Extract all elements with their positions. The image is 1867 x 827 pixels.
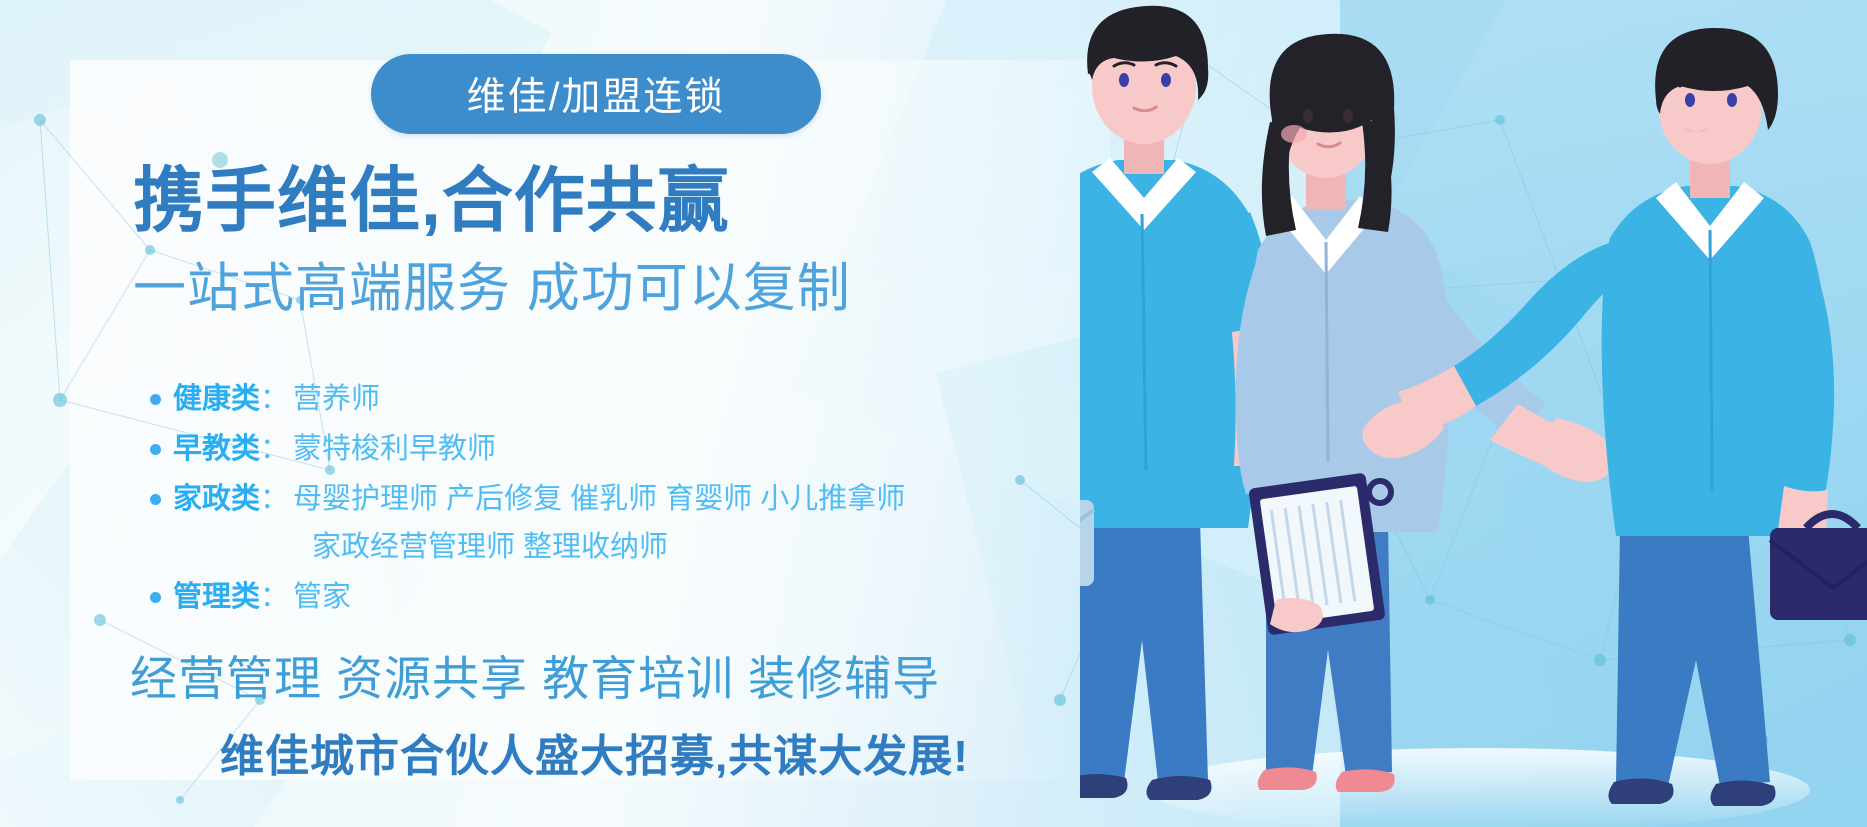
category-items: 营养师	[293, 378, 380, 420]
category-separator: ：	[260, 478, 289, 520]
list-item-continuation: 家政经营管理师 整理收纳师	[150, 526, 1050, 568]
list-item: 早教类 ： 蒙特梭利早教师	[150, 428, 1050, 470]
briefcase-dark	[1770, 514, 1867, 620]
list-item: 家政类 ： 母婴护理师 产后修复 催乳师 育婴师 小儿推拿师	[150, 478, 1050, 520]
banner-content: 维佳/加盟连锁 携手维佳,合作共赢 一站式高端服务 成功可以复制 健康类 ： 营…	[0, 0, 1050, 827]
bullet-dot-icon	[150, 494, 161, 505]
bullet-dot-icon	[150, 394, 161, 405]
services-line: 经营管理 资源共享 教育培训 装修辅导	[130, 655, 940, 702]
brand-badge-label: 维佳/加盟连锁	[467, 66, 726, 122]
category-items: 管家	[293, 576, 351, 618]
category-items-continued: 家政经营管理师 整理收纳师	[312, 526, 668, 568]
category-items: 母婴护理师 产后修复 催乳师 育婴师 小儿推拿师	[293, 478, 905, 520]
category-name: 早教类	[173, 428, 260, 470]
list-item: 管理类 ： 管家	[150, 576, 1050, 618]
bullet-dot-icon	[150, 592, 161, 603]
category-name: 健康类	[173, 378, 260, 420]
category-separator: ：	[260, 576, 289, 618]
figure-businessman-right	[1362, 28, 1867, 806]
category-separator: ：	[260, 378, 289, 420]
call-to-action-line: 维佳城市合伙人盛大招募,共谋大发展!	[220, 735, 969, 779]
promo-banner: 维佳/加盟连锁 携手维佳,合作共赢 一站式高端服务 成功可以复制 健康类 ： 营…	[0, 0, 1867, 827]
category-items: 蒙特梭利早教师	[293, 428, 496, 470]
headline: 携手维佳,合作共赢	[133, 166, 730, 237]
category-separator: ：	[260, 428, 289, 470]
illustration-business-people	[1080, 0, 1867, 827]
list-item: 健康类 ： 营养师	[150, 378, 1050, 420]
subheadline: 一站式高端服务 成功可以复制	[133, 262, 851, 315]
bullet-dot-icon	[150, 444, 161, 455]
briefcase-light	[1080, 488, 1094, 586]
category-name: 家政类	[173, 478, 260, 520]
service-category-list: 健康类 ： 营养师 早教类 ： 蒙特梭利早教师 家政类 ： 母婴护理师 产后修复…	[150, 378, 1050, 626]
brand-badge[interactable]: 维佳/加盟连锁	[371, 54, 821, 134]
category-name: 管理类	[173, 576, 260, 618]
